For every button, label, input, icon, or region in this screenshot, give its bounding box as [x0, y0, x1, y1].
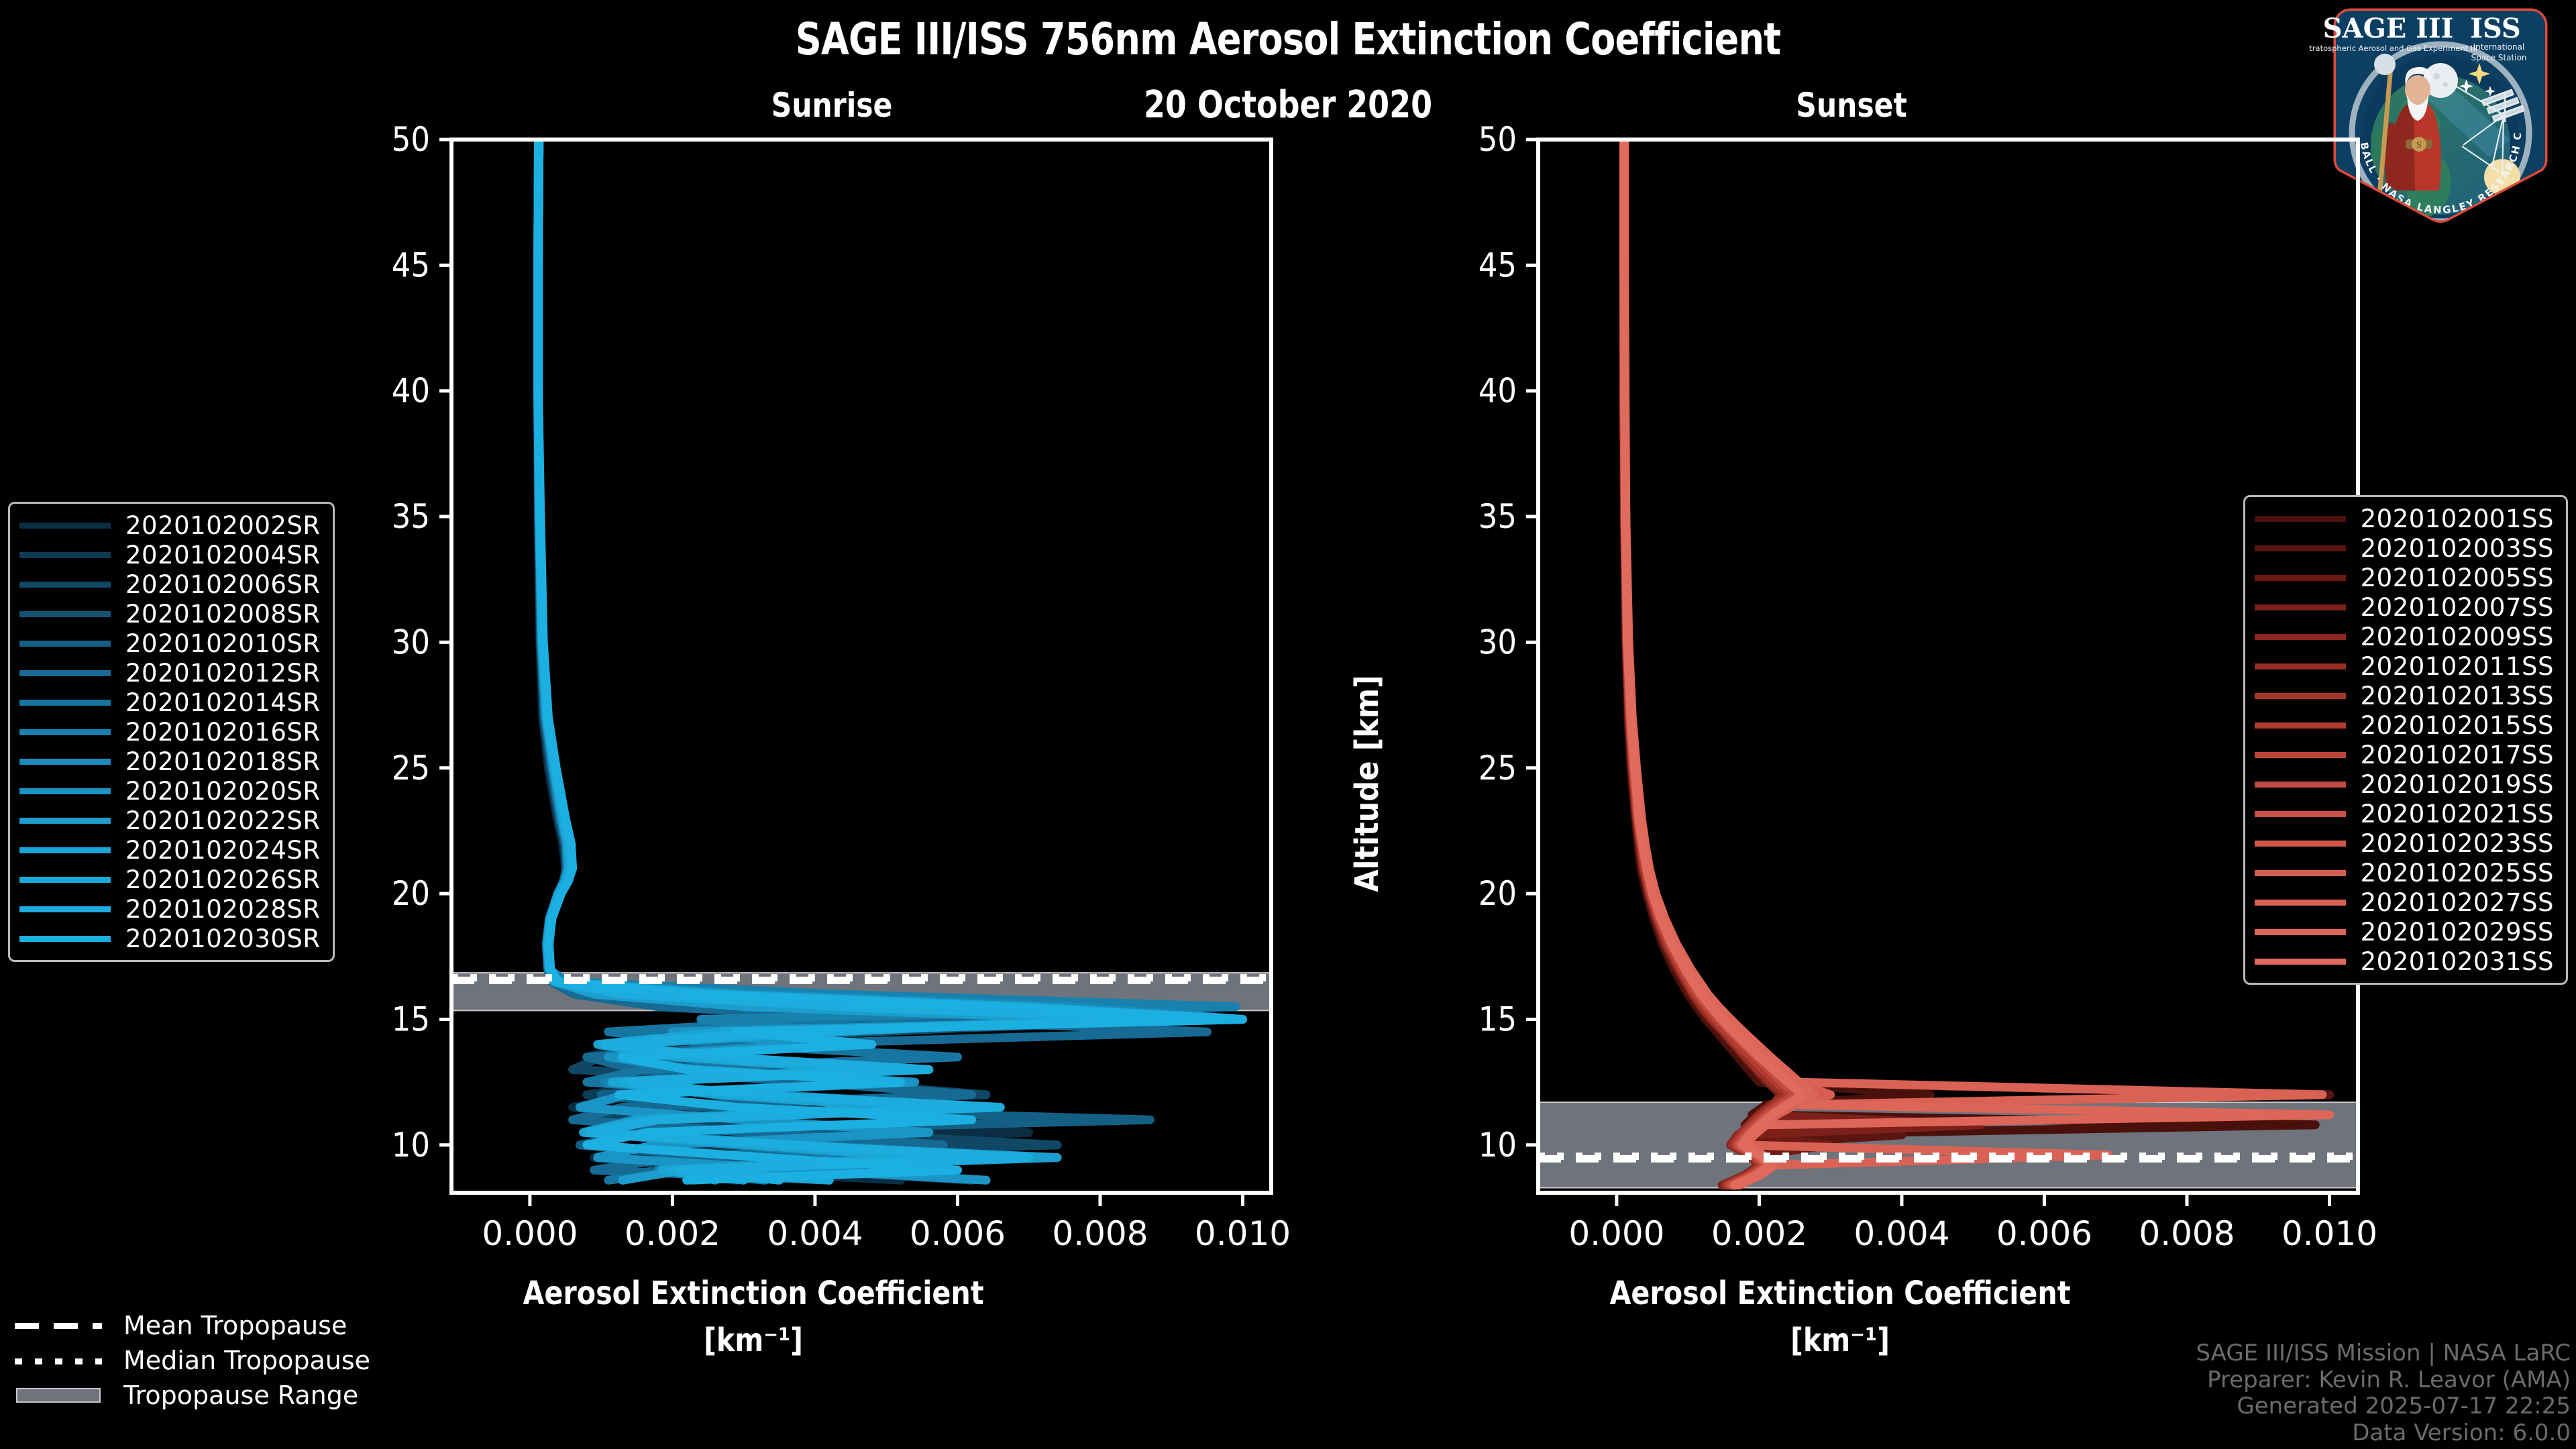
legend-item[interactable]: 2020102017SS: [2255, 740, 2554, 769]
legend-item-label: 2020102007SS: [2361, 593, 2554, 622]
x-tick-label: 0.002: [625, 1214, 720, 1253]
legend-sunrise[interactable]: 2020102002SR2020102004SR2020102006SR2020…: [8, 502, 335, 962]
footer-line: Generated 2025-07-17 22:25: [2196, 1393, 2571, 1419]
legend-item[interactable]: 2020102028SR: [19, 894, 321, 924]
legend-item[interactable]: 2020102005SS: [2255, 563, 2554, 592]
legend-item-label: 2020102006SR: [125, 570, 321, 599]
legend-item[interactable]: 2020102016SR: [19, 717, 321, 747]
y-tick-label: 50: [392, 121, 430, 159]
plot-area-sunrise: 1015202530354045500.0000.0020.0040.0060.…: [201, 121, 1301, 1422]
legend-color-swatch: [19, 788, 111, 794]
legend-color-swatch: [2255, 782, 2346, 788]
legend-item[interactable]: 2020102027SS: [2255, 888, 2554, 917]
tropopause-legend-label: Mean Tropopause: [123, 1311, 347, 1340]
x-axis-unit-sunset: [km⁻¹]: [1580, 1322, 2100, 1359]
x-axis-title-sunrise: Aerosol Extinction Coefficient: [494, 1275, 1013, 1312]
y-tick-label: 20: [1479, 874, 1517, 913]
y-tick-label: 10: [1479, 1126, 1517, 1165]
legend-color-swatch: [2255, 575, 2346, 581]
legend-color-swatch: [2255, 722, 2346, 729]
y-tick-label: 10: [392, 1126, 430, 1165]
legend-item-label: 2020102009SS: [2361, 623, 2554, 651]
legend-color-swatch: [2255, 604, 2346, 610]
tropopause-legend-item: Tropopause Range: [11, 1378, 370, 1413]
legend-color-swatch: [19, 847, 111, 853]
legend-item-label: 2020102029SS: [2361, 918, 2554, 947]
legend-item-label: 2020102030SR: [125, 924, 321, 953]
legend-item[interactable]: 2020102003SS: [2255, 533, 2554, 563]
data-series-line: [1624, 140, 1785, 1185]
tropopause-legend-label: Tropopause Range: [123, 1381, 358, 1410]
legend-color-swatch: [19, 670, 111, 676]
y-tick-label: 35: [1479, 497, 1517, 536]
chart-panel-sunrise: 1015202530354045500.0000.0020.0040.0060.…: [201, 121, 1301, 1422]
legend-item-label: 2020102025SS: [2361, 859, 2554, 888]
legend-color-swatch: [2255, 929, 2346, 935]
y-tick-label: 25: [392, 749, 430, 788]
legend-item-label: 2020102012SR: [125, 659, 321, 688]
legend-item[interactable]: 2020102001SS: [2255, 504, 2554, 533]
legend-item[interactable]: 2020102029SS: [2255, 917, 2554, 947]
legend-item-label: 2020102002SR: [125, 511, 321, 540]
legend-color-swatch: [19, 906, 111, 912]
legend-item[interactable]: 2020102009SS: [2255, 622, 2554, 651]
legend-item-label: 2020102026SR: [125, 865, 321, 894]
svg-text:S: S: [2416, 140, 2422, 150]
legend-item[interactable]: 2020102022SR: [19, 806, 321, 835]
legend-item-label: 2020102017SS: [2361, 741, 2554, 769]
legend-item[interactable]: 2020102006SR: [19, 570, 321, 599]
legend-item-label: 2020102021SS: [2361, 800, 2554, 828]
legend-item[interactable]: 2020102023SS: [2255, 828, 2554, 858]
x-tick-label: 0.010: [1195, 1214, 1291, 1253]
chart-panel-sunset: 1015202530354045500.0000.0020.0040.0060.…: [1288, 121, 2388, 1422]
legend-item-label: 2020102008SR: [125, 600, 321, 629]
y-tick-label: 15: [392, 1000, 430, 1038]
legend-color-swatch: [19, 759, 111, 765]
legend-color-swatch: [19, 552, 111, 558]
legend-item[interactable]: 2020102004SR: [19, 540, 321, 570]
legend-item-label: 2020102013SS: [2361, 682, 2554, 710]
legend-item-label: 2020102004SR: [125, 541, 321, 570]
legend-color-swatch: [2255, 752, 2346, 758]
legend-color-swatch: [19, 700, 111, 706]
panel-label-sunset: Sunset: [1749, 86, 1954, 125]
legend-item[interactable]: 2020102024SR: [19, 835, 321, 865]
legend-item-label: 2020102016SR: [125, 718, 321, 747]
legend-color-swatch: [2255, 841, 2346, 847]
y-tick-label: 45: [392, 246, 430, 284]
legend-color-swatch: [2255, 900, 2346, 906]
tropopause-legend-item: Median Tropopause: [11, 1343, 370, 1378]
tropopause-legend-key: [11, 1352, 110, 1369]
legend-color-swatch: [2255, 634, 2346, 640]
legend-item[interactable]: 2020102020SR: [19, 776, 321, 806]
legend-color-swatch: [2255, 516, 2346, 522]
x-tick-label: 0.008: [2139, 1214, 2235, 1253]
legend-item-label: 2020102031SS: [2361, 947, 2554, 976]
plot-frame: [1538, 140, 2358, 1193]
legend-tropopause: Mean TropopauseMedian TropopauseTropopau…: [11, 1308, 370, 1413]
logo-title-main: SAGE III: [2323, 13, 2454, 44]
legend-item[interactable]: 2020102014SR: [19, 688, 321, 717]
legend-item[interactable]: 2020102031SS: [2255, 947, 2554, 976]
data-series-line: [1624, 140, 1792, 1185]
footer-line: Data Version: 6.0.0: [2196, 1420, 2571, 1446]
legend-color-swatch: [19, 877, 111, 883]
legend-color-swatch: [19, 936, 111, 942]
y-tick-label: 25: [1479, 749, 1517, 788]
legend-item-label: 2020102020SR: [125, 777, 321, 806]
legend-item-label: 2020102014SR: [125, 688, 321, 717]
tropopause-legend-label: Median Tropopause: [123, 1346, 370, 1375]
y-tick-label: 30: [1479, 623, 1517, 661]
legend-item-label: 2020102023SS: [2361, 829, 2554, 858]
legend-item[interactable]: 2020102021SS: [2255, 799, 2554, 828]
legend-color-swatch: [19, 582, 111, 588]
legend-item[interactable]: 2020102026SR: [19, 865, 321, 894]
legend-item-label: 2020102010SR: [125, 629, 321, 658]
legend-color-swatch: [2255, 693, 2346, 699]
x-tick-label: 0.002: [1711, 1214, 1807, 1253]
data-series-line: [1624, 140, 1980, 1185]
legend-item-label: 2020102018SR: [125, 747, 321, 776]
legend-item-label: 2020102003SS: [2361, 534, 2554, 563]
y-tick-label: 40: [1479, 372, 1517, 411]
legend-color-swatch: [2255, 545, 2346, 551]
legend-item-label: 2020102011SS: [2361, 652, 2554, 681]
legend-color-swatch: [19, 523, 111, 529]
plot-area-sunset: 1015202530354045500.0000.0020.0040.0060.…: [1288, 121, 2388, 1422]
legend-item-label: 2020102015SS: [2361, 711, 2554, 740]
x-tick-label: 0.000: [1568, 1214, 1664, 1253]
legend-color-swatch: [19, 729, 111, 735]
data-series-line: [1624, 140, 1791, 1185]
logo-title-dot: ·: [2443, 15, 2451, 42]
legend-color-swatch: [19, 818, 111, 824]
panel-label-sunrise: Sunrise: [729, 86, 934, 125]
x-axis-unit-sunrise: [km⁻¹]: [494, 1322, 1013, 1359]
legend-item[interactable]: 2020102008SR: [19, 599, 321, 629]
y-tick-label: 35: [392, 497, 430, 536]
x-tick-label: 0.004: [767, 1214, 863, 1253]
y-axis-title-sunset: Altitude [km]: [1348, 675, 1386, 892]
legend-color-swatch: [2255, 663, 2346, 669]
logo-subtitle-right-2: Space Station: [2471, 53, 2526, 62]
legend-item[interactable]: 2020102018SR: [19, 747, 321, 776]
x-tick-label: 0.008: [1052, 1214, 1148, 1253]
x-axis-title-sunset: Aerosol Extinction Coefficient: [1580, 1275, 2100, 1312]
legend-color-swatch: [19, 611, 111, 617]
x-tick-label: 0.006: [1996, 1214, 2092, 1253]
y-tick-label: 20: [392, 874, 430, 913]
legend-color-swatch: [2255, 870, 2346, 876]
legend-item-label: 2020102024SR: [125, 836, 321, 865]
tropopause-legend-key: [11, 1317, 110, 1334]
legend-item[interactable]: 2020102002SR: [19, 511, 321, 540]
legend-item[interactable]: 2020102010SR: [19, 629, 321, 658]
x-tick-label: 0.000: [482, 1214, 578, 1253]
page-title: SAGE III/ISS 756nm Aerosol Extinction Co…: [232, 13, 2345, 65]
tropopause-legend-key: [11, 1387, 110, 1404]
footer-credits: SAGE III/ISS Mission | NASA LaRCPreparer…: [2196, 1340, 2571, 1446]
legend-item[interactable]: 2020102013SS: [2255, 681, 2554, 710]
x-tick-label: 0.004: [1854, 1214, 1949, 1253]
legend-sunset[interactable]: 2020102001SS2020102003SS2020102005SS2020…: [2243, 495, 2568, 985]
logo-title-iss: ISS: [2470, 13, 2521, 44]
legend-color-swatch: [2255, 811, 2346, 817]
legend-item[interactable]: 2020102030SR: [19, 924, 321, 953]
legend-item[interactable]: 2020102019SS: [2255, 769, 2554, 799]
legend-color-swatch: [2255, 959, 2346, 965]
logo-subtitle-left: Stratospheric Aerosol and Gas Experiment…: [2309, 44, 2477, 53]
y-tick-label: 15: [1479, 1000, 1517, 1038]
logo-subtitle-right-1: International: [2473, 42, 2525, 52]
legend-item-label: 2020102001SS: [2361, 504, 2554, 533]
legend-color-swatch: [19, 641, 111, 647]
legend-item[interactable]: 2020102025SS: [2255, 858, 2554, 888]
x-tick-label: 0.006: [910, 1214, 1006, 1253]
data-series-line: [539, 140, 1243, 1180]
legend-item-label: 2020102005SS: [2361, 563, 2554, 592]
footer-line: Preparer: Kevin R. Leavor (AMA): [2196, 1367, 2571, 1393]
legend-item-label: 2020102019SS: [2361, 770, 2554, 799]
legend-item-label: 2020102022SR: [125, 806, 321, 835]
y-tick-label: 30: [392, 623, 430, 661]
legend-item-label: 2020102028SR: [125, 895, 321, 924]
y-tick-label: 50: [1479, 121, 1517, 159]
footer-line: SAGE III/ISS Mission | NASA LaRC: [2196, 1340, 2571, 1366]
legend-item[interactable]: 2020102012SR: [19, 658, 321, 688]
x-tick-label: 0.010: [2282, 1214, 2377, 1253]
legend-item[interactable]: 2020102011SS: [2255, 651, 2554, 681]
y-tick-label: 45: [1479, 246, 1517, 284]
tropopause-legend-item: Mean Tropopause: [11, 1308, 370, 1343]
y-tick-label: 40: [392, 372, 430, 411]
legend-item[interactable]: 2020102015SS: [2255, 710, 2554, 740]
legend-item-label: 2020102027SS: [2361, 888, 2554, 917]
legend-item[interactable]: 2020102007SS: [2255, 592, 2554, 622]
